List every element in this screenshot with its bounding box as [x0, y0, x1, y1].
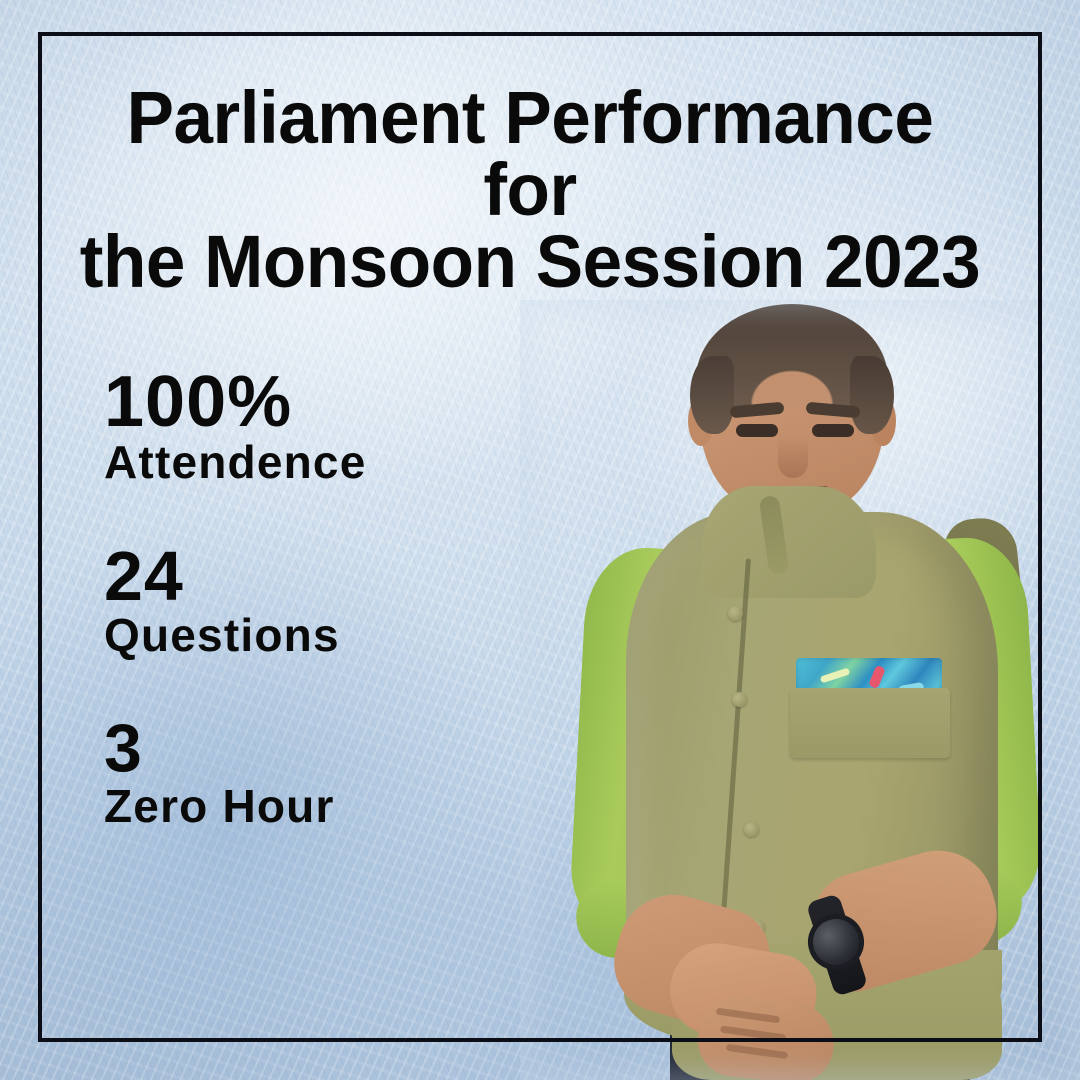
stat-item-questions: 24 Questions — [104, 543, 524, 660]
stat-item-attendance: 100% Attendence — [104, 368, 524, 487]
nose — [778, 436, 808, 478]
vest-button-2 — [732, 692, 747, 707]
vest-button-1 — [728, 606, 743, 621]
hair-side-right — [850, 356, 894, 434]
eye-left — [736, 424, 778, 437]
vest-button-3 — [744, 822, 759, 837]
stat-value-zero-hour: 3 — [104, 716, 524, 781]
stat-item-zero-hour: 3 Zero Hour — [104, 716, 524, 831]
stat-value-questions: 24 — [104, 543, 524, 610]
chest-pocket — [790, 688, 950, 758]
stat-value-attendance: 100% — [104, 368, 524, 437]
stat-label-questions: Questions — [104, 612, 524, 660]
portrait-photo — [520, 300, 1080, 1080]
page-title: Parliament Performance for the Monsoon S… — [79, 82, 981, 297]
vest-mandarin-collar — [702, 486, 876, 598]
stat-label-zero-hour: Zero Hour — [104, 783, 524, 831]
eye-right — [812, 424, 854, 437]
statistics-list: 100% Attendence 24 Questions 3 Zero Hour — [104, 368, 524, 831]
stat-label-attendance: Attendence — [104, 439, 524, 487]
hair-side-left — [690, 356, 734, 434]
poster-canvas: Parliament Performance for the Monsoon S… — [0, 0, 1080, 1080]
